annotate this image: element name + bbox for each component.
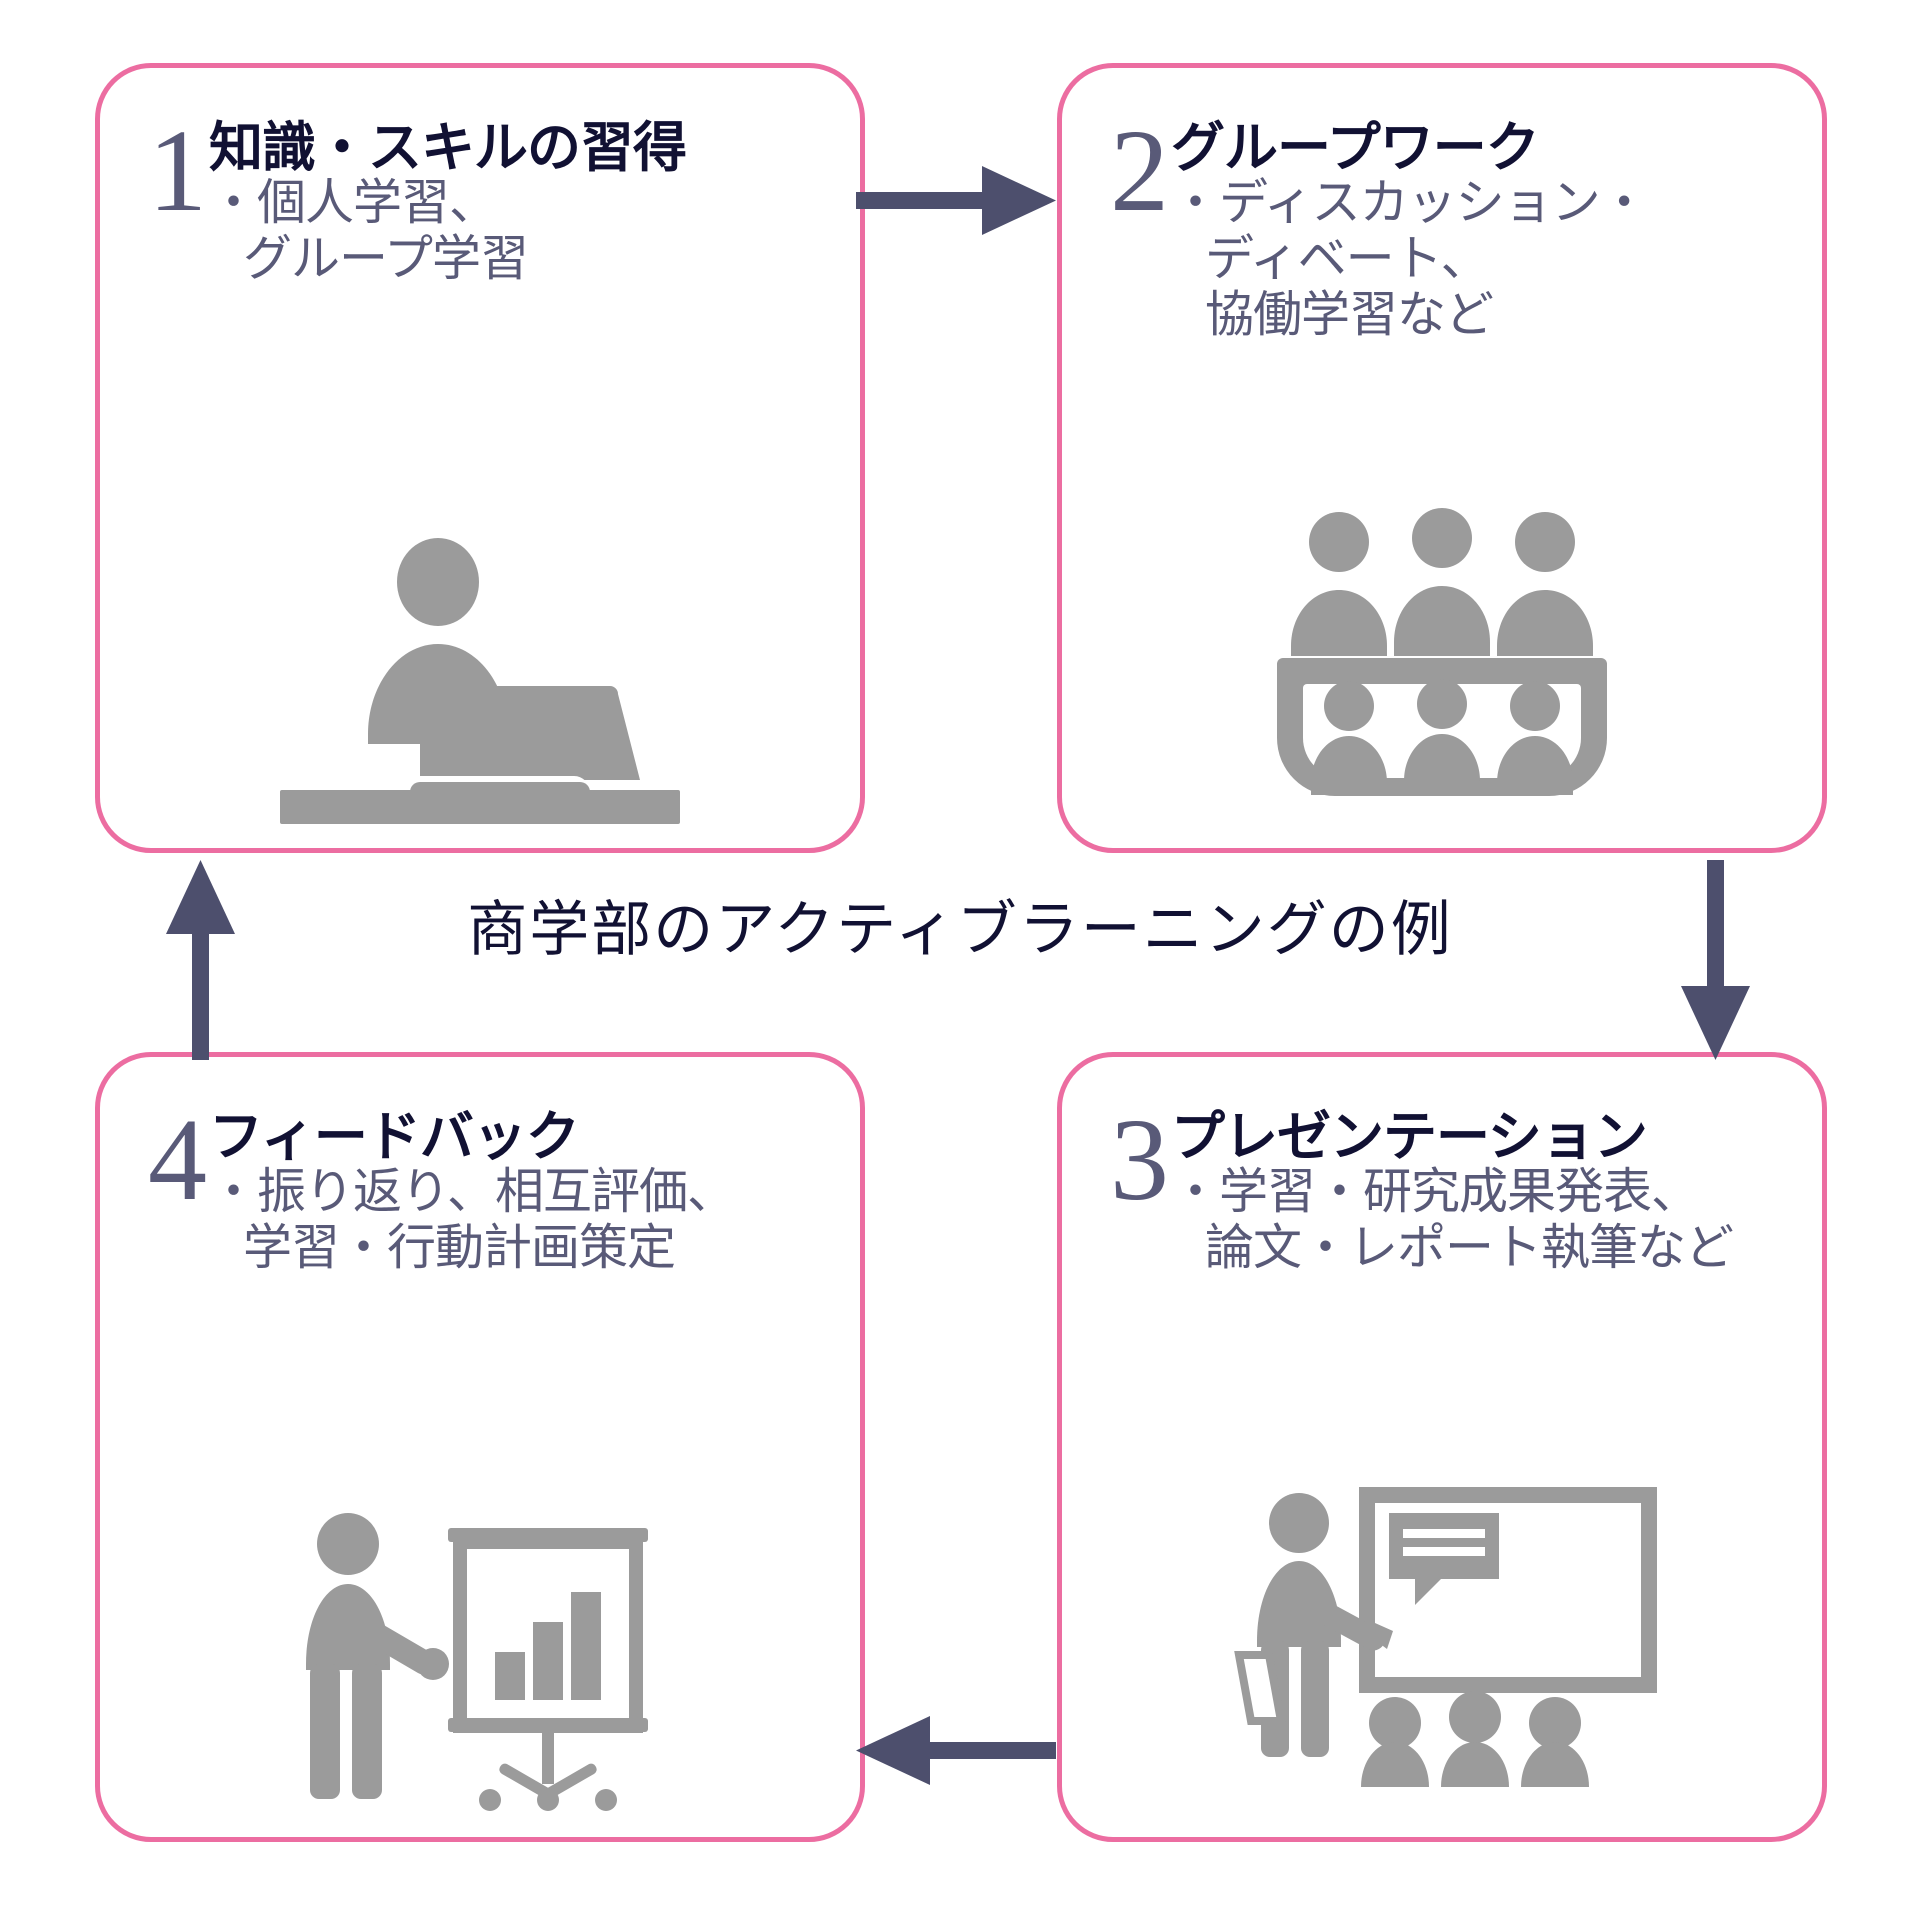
step-1-line-2: グループ学習 bbox=[209, 232, 838, 288]
step-4-text-block: 4 フィードバック ・振り返り、相互評価、 学習・行動計画策定 bbox=[100, 1057, 860, 1277]
step-4-number: 4 bbox=[148, 1105, 205, 1215]
step-card-2[interactable]: 2 グループワーク ・ディスカッション・ ディベート、 協働学習など bbox=[1057, 63, 1827, 853]
step-2-line-2: ディベート、 bbox=[1171, 232, 1800, 288]
arrow-step1-to-step2 bbox=[856, 140, 1056, 275]
step-2-illustration bbox=[1062, 508, 1822, 798]
diagram-canvas: 1 知識・スキルの習得 ・個人学習、 グループ学習 2 bbox=[0, 0, 1920, 1925]
person-at-laptop-icon bbox=[270, 538, 690, 828]
step-4-lines: フィードバック ・振り返り、相互評価、 学習・行動計画策定 bbox=[209, 1105, 838, 1277]
step-4-title: フィードバック bbox=[209, 1109, 838, 1165]
step-1-line-1: ・個人学習、 bbox=[209, 176, 838, 232]
step-2-line-1: ・ディスカッション・ bbox=[1171, 176, 1800, 232]
step-card-4[interactable]: 4 フィードバック ・振り返り、相互評価、 学習・行動計画策定 bbox=[95, 1052, 865, 1842]
presenter-with-screen-and-audience-icon bbox=[1227, 1487, 1657, 1787]
step-3-illustration bbox=[1062, 1487, 1822, 1787]
step-3-line-1: ・学習・研究成果発表、 bbox=[1171, 1165, 1800, 1221]
step-2-lines: グループワーク ・ディスカッション・ ディベート、 協働学習など bbox=[1171, 116, 1800, 344]
step-4-illustration bbox=[100, 1512, 860, 1812]
step-2-line-3: 協働学習など bbox=[1171, 288, 1800, 344]
step-4-line-2: 学習・行動計画策定 bbox=[209, 1221, 838, 1277]
step-1-lines: 知識・スキルの習得 ・個人学習、 グループ学習 bbox=[209, 116, 838, 288]
step-1-title: 知識・スキルの習得 bbox=[209, 120, 838, 176]
step-3-line-2: 論文・レポート執筆など bbox=[1171, 1221, 1800, 1277]
step-1-text-block: 1 知識・スキルの習得 ・個人学習、 グループ学習 bbox=[100, 68, 860, 288]
arrow-step2-to-step3 bbox=[1655, 860, 1785, 1065]
step-3-number: 3 bbox=[1110, 1105, 1167, 1215]
arrow-step3-to-step4 bbox=[856, 1690, 1056, 1825]
step-3-title: プレゼンテーション bbox=[1171, 1109, 1800, 1165]
step-2-text-block: 2 グループワーク ・ディスカッション・ ディベート、 協働学習など bbox=[1062, 68, 1822, 344]
step-4-line-1: ・振り返り、相互評価、 bbox=[209, 1165, 838, 1221]
center-title: 商学部のアクティブラーニングの例 bbox=[0, 900, 1920, 960]
arrow-step4-to-step1 bbox=[140, 860, 270, 1065]
step-1-number: 1 bbox=[148, 116, 205, 226]
group-of-people-icon bbox=[1277, 508, 1607, 798]
step-card-3[interactable]: 3 プレゼンテーション ・学習・研究成果発表、 論文・レポート執筆など bbox=[1057, 1052, 1827, 1842]
step-card-1[interactable]: 1 知識・スキルの習得 ・個人学習、 グループ学習 bbox=[95, 63, 865, 853]
presenter-with-bar-chart-easel-icon bbox=[290, 1512, 670, 1812]
step-1-illustration bbox=[100, 538, 860, 828]
step-2-number: 2 bbox=[1110, 116, 1167, 226]
step-3-lines: プレゼンテーション ・学習・研究成果発表、 論文・レポート執筆など bbox=[1171, 1105, 1800, 1277]
step-2-title: グループワーク bbox=[1171, 120, 1800, 176]
step-3-text-block: 3 プレゼンテーション ・学習・研究成果発表、 論文・レポート執筆など bbox=[1062, 1057, 1822, 1277]
